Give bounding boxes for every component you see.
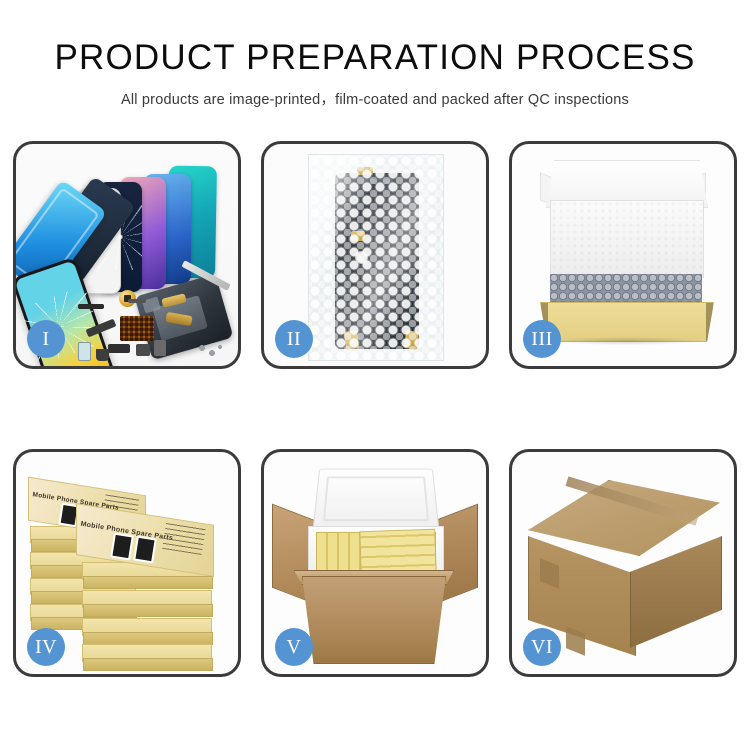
step-badge-6: VI <box>523 628 561 666</box>
process-step-panel-3: III <box>509 141 737 369</box>
lcd-screen-icon <box>335 173 419 349</box>
process-step-panel-2: II <box>261 141 489 369</box>
ic-chip-array-icon <box>120 316 154 341</box>
product-preparation-process-page: PRODUCT PREPARATION PROCESS All products… <box>0 0 750 750</box>
box-art-screen-front-1 <box>110 533 134 561</box>
stacked-box-fr-3 <box>82 618 212 636</box>
step-badge-4: IV <box>27 628 65 666</box>
vibrator-part-icon <box>108 344 130 353</box>
tape-strip-bottom-left-icon <box>344 330 359 350</box>
screen-connector-icon <box>355 251 368 264</box>
page-subtitle: All products are image-printed，film-coat… <box>0 88 750 109</box>
styrofoam-lid <box>312 469 439 531</box>
tape-strip-top-icon <box>357 167 373 175</box>
step-badge-2: II <box>275 320 313 358</box>
tape-strip-mid-icon <box>351 231 365 241</box>
speaker-part-icon <box>78 304 104 309</box>
camera-module-icon <box>136 344 150 356</box>
process-step-panel-5: V <box>261 449 489 677</box>
kraft-box-base <box>540 302 714 342</box>
step-badge-5: V <box>275 628 313 666</box>
foam-texture <box>551 201 703 277</box>
process-step-panel-4: Mobile Phone Spare Parts Mobile Phone Sp… <box>13 449 241 677</box>
speaker-mesh-icon <box>96 349 109 361</box>
tape-strip-bottom-right-icon <box>404 330 419 350</box>
sim-tray-icon <box>154 340 166 356</box>
box-drop-shadow <box>552 337 702 345</box>
process-step-panel-1: I <box>13 141 241 369</box>
page-header: PRODUCT PREPARATION PROCESS All products… <box>0 0 750 109</box>
step-badge-3: III <box>523 320 561 358</box>
screws-icon <box>198 344 224 358</box>
bubble-wrap-bag <box>308 154 444 361</box>
process-step-panel-6: VI <box>509 449 737 677</box>
box-art-screen-front-2 <box>133 536 157 564</box>
battery-connector-icon <box>78 342 91 361</box>
process-step-grid: I II <box>13 141 737 677</box>
antenna-strip-icon <box>128 299 146 303</box>
box-spec-lines-front <box>162 521 206 555</box>
stacked-box-fr-4 <box>82 644 212 662</box>
stacked-box-fr-2 <box>82 590 212 608</box>
white-foam-sheet <box>550 200 704 278</box>
page-title: PRODUCT PREPARATION PROCESS <box>0 40 750 77</box>
carton-body <box>302 576 446 664</box>
step-badge-1: I <box>27 320 65 358</box>
bubble-wrap-layer <box>550 274 702 304</box>
